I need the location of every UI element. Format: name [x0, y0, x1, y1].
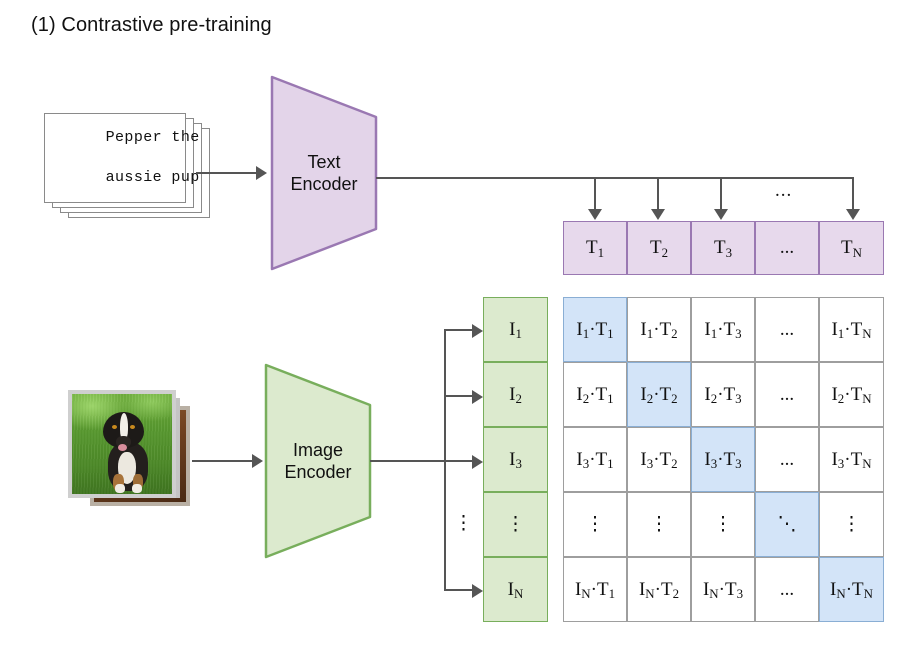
- similarity-cell-r4-c4[interactable]: ⋱: [755, 492, 819, 557]
- image-bus-ellipsis: ⋮: [454, 514, 473, 533]
- caption-text: Pepper the aussie pup: [30, 108, 199, 208]
- text-embedding-cell-3[interactable]: T3: [691, 221, 755, 275]
- similarity-cell-r5-c3[interactable]: IN·T3: [691, 557, 755, 622]
- similarity-cell-r1-c2[interactable]: I1·T2: [627, 297, 691, 362]
- similarity-cell-r3-c2[interactable]: I3·T2: [627, 427, 691, 492]
- similarity-cell-label: ⋮: [842, 513, 861, 536]
- similarity-cell-r5-c2[interactable]: IN·T2: [627, 557, 691, 622]
- image-embedding-label-1: I1: [509, 319, 522, 341]
- similarity-cell-r4-c3[interactable]: ⋮: [691, 492, 755, 557]
- similarity-cell-r2-c4[interactable]: ...: [755, 362, 819, 427]
- similarity-cell-label: I3·T2: [640, 449, 677, 471]
- arrowhead-bus-branch-i3: [472, 455, 483, 469]
- wire-text-encoder-bus: [376, 177, 854, 179]
- image-embedding-cell-2[interactable]: I2: [483, 362, 548, 427]
- similarity-cell-label: I1·TN: [831, 319, 871, 341]
- arrowhead-bus-branch-i2: [472, 390, 483, 404]
- text-embedding-label-2: T2: [650, 237, 668, 259]
- similarity-cell-label: I2·T2: [640, 384, 677, 406]
- similarity-cell-label: I3·T3: [704, 449, 741, 471]
- image-embedding-cell-n[interactable]: IN: [483, 557, 548, 622]
- arrowhead-bus-branch-i1: [472, 324, 483, 338]
- similarity-cell-r4-c5[interactable]: ⋮: [819, 492, 884, 557]
- wire-photo-to-image-encoder: [192, 460, 254, 462]
- bus-ellipsis: ...: [775, 180, 792, 202]
- similarity-cell-label: ⋱: [778, 513, 797, 536]
- similarity-cell-r4-c2[interactable]: ⋮: [627, 492, 691, 557]
- similarity-cell-label: I2·T3: [704, 384, 741, 406]
- similarity-cell-label: ...: [779, 319, 794, 341]
- similarity-cell-r1-c3[interactable]: I1·T3: [691, 297, 755, 362]
- text-embedding-ellipsis: ...: [779, 237, 794, 259]
- photo-card-front: [68, 390, 176, 498]
- arrowhead-bus-drop-t3: [714, 209, 728, 220]
- similarity-cell-r3-c4[interactable]: ...: [755, 427, 819, 492]
- text-embedding-cell-ellipsis: ...: [755, 221, 819, 275]
- similarity-cell-label: ...: [779, 579, 794, 601]
- dog-eye-right: [130, 425, 135, 429]
- image-embedding-label-2: I2: [509, 384, 522, 406]
- similarity-cell-label: I1·T3: [704, 319, 741, 341]
- arrowhead-caption-to-text-encoder: [256, 166, 267, 180]
- dog-eye-left: [112, 425, 117, 429]
- arrowhead-bus-drop-t1: [588, 209, 602, 220]
- similarity-cell-label: ⋮: [714, 513, 733, 536]
- arrowhead-bus-branch-in: [472, 584, 483, 598]
- text-embedding-cell-2[interactable]: T2: [627, 221, 691, 275]
- similarity-cell-r1-c5[interactable]: I1·TN: [819, 297, 884, 362]
- image-encoder[interactable]: Image Encoder: [264, 363, 372, 559]
- similarity-cell-label: ...: [779, 384, 794, 406]
- similarity-cell-r5-c1[interactable]: IN·T1: [563, 557, 627, 622]
- wire-image-bus-vertical: [444, 329, 446, 589]
- image-embedding-ellipsis: ⋮: [506, 513, 525, 536]
- similarity-cell-r1-c4[interactable]: ...: [755, 297, 819, 362]
- similarity-cell-label: I3·T1: [576, 449, 613, 471]
- similarity-cell-r4-c1[interactable]: ⋮: [563, 492, 627, 557]
- similarity-cell-r3-c1[interactable]: I3·T1: [563, 427, 627, 492]
- similarity-cell-r5-c5[interactable]: IN·TN: [819, 557, 884, 622]
- dog-paw-right: [132, 484, 142, 493]
- image-embedding-cell-3[interactable]: I3: [483, 427, 548, 492]
- text-embedding-cell-n[interactable]: TN: [819, 221, 884, 275]
- similarity-cell-label: IN·T2: [639, 579, 679, 601]
- similarity-cell-label: I1·T2: [640, 319, 677, 341]
- caption-line-1: Pepper the: [106, 129, 200, 146]
- similarity-cell-r5-c4[interactable]: ...: [755, 557, 819, 622]
- similarity-cell-r3-c5[interactable]: I3·TN: [819, 427, 884, 492]
- wire-caption-to-text-encoder: [196, 172, 258, 174]
- text-embedding-label-3: T3: [714, 237, 732, 259]
- text-embedding-label-1: T1: [586, 237, 604, 259]
- similarity-cell-label: IN·T1: [575, 579, 615, 601]
- image-embedding-label-3: I3: [509, 449, 522, 471]
- similarity-cell-label: I3·TN: [831, 449, 871, 471]
- similarity-matrix: I1·T1I1·T2I1·T3...I1·TNI2·T1I2·T2I2·T3..…: [563, 297, 884, 622]
- image-embedding-cell-1[interactable]: I1: [483, 297, 548, 362]
- similarity-cell-label: ⋮: [586, 513, 605, 536]
- arrowhead-bus-drop-t2: [651, 209, 665, 220]
- dog-paw-left: [115, 484, 125, 493]
- wire-image-encoder-out: [370, 460, 446, 462]
- similarity-cell-r2-c5[interactable]: I2·TN: [819, 362, 884, 427]
- similarity-cell-r2-c3[interactable]: I2·T3: [691, 362, 755, 427]
- similarity-cell-r1-c1[interactable]: I1·T1: [563, 297, 627, 362]
- similarity-cell-r2-c2[interactable]: I2·T2: [627, 362, 691, 427]
- image-embedding-label-n: IN: [508, 579, 524, 601]
- wire-bus-drop-t3: [720, 177, 722, 212]
- text-embedding-label-n: TN: [841, 237, 862, 259]
- similarity-cell-label: IN·T3: [703, 579, 743, 601]
- similarity-cell-label: IN·TN: [830, 579, 873, 601]
- wire-bus-drop-t1: [594, 177, 596, 212]
- similarity-cell-label: ⋮: [650, 513, 669, 536]
- wire-bus-drop-t2: [657, 177, 659, 212]
- similarity-cell-label: ...: [779, 449, 794, 471]
- caption-line-2: aussie pup: [106, 169, 200, 186]
- dog-tongue: [118, 444, 127, 451]
- similarity-cell-label: I1·T1: [576, 319, 613, 341]
- similarity-cell-r3-c3[interactable]: I3·T3: [691, 427, 755, 492]
- similarity-cell-label: I2·T1: [576, 384, 613, 406]
- wire-bus-drop-tn: [852, 177, 854, 212]
- page-title: (1) Contrastive pre-training: [31, 14, 272, 37]
- similarity-cell-r2-c1[interactable]: I2·T1: [563, 362, 627, 427]
- image-embedding-cell-ellipsis: ⋮: [483, 492, 548, 557]
- figure-canvas: (1) Contrastive pre-training Pepper the …: [0, 0, 906, 654]
- arrowhead-bus-drop-tn: [846, 209, 860, 220]
- caption-card-front: Pepper the aussie pup: [44, 113, 186, 203]
- text-encoder[interactable]: Text Encoder: [270, 75, 378, 271]
- text-embedding-cell-1[interactable]: T1: [563, 221, 627, 275]
- arrowhead-photo-to-image-encoder: [252, 454, 263, 468]
- similarity-cell-label: I2·TN: [831, 384, 871, 406]
